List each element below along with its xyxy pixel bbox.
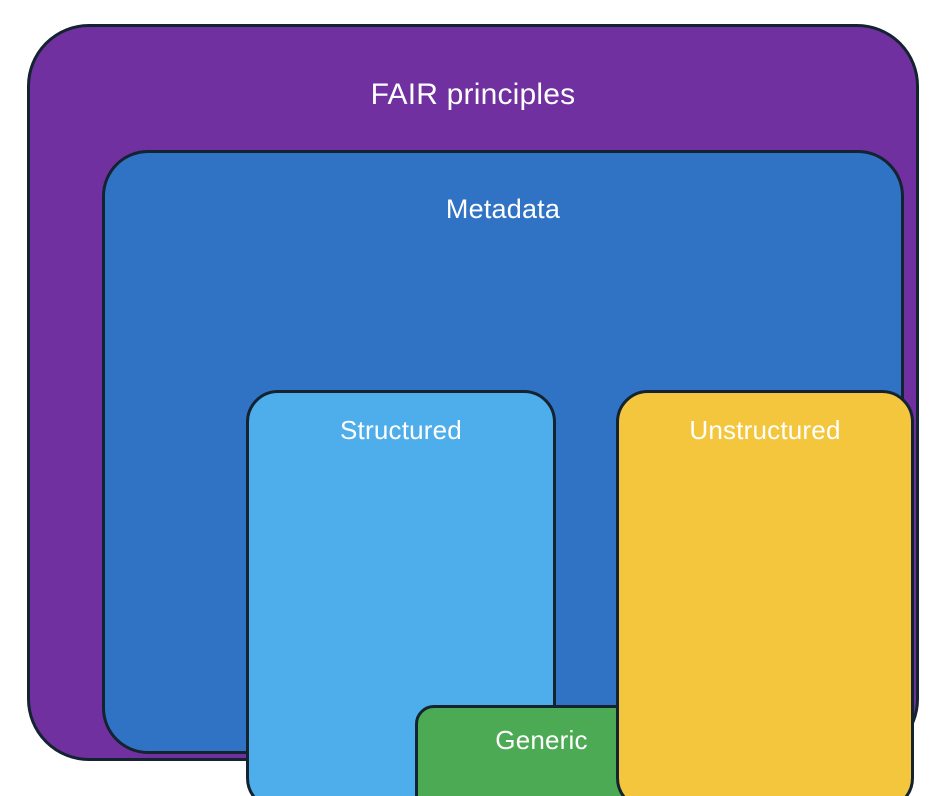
unstructured-category-label: Unstructured: [619, 393, 911, 445]
structured-category-container: Structured Generic Specific: [246, 390, 556, 796]
fair-principles-container: FAIR principles Metadata Structured Gene…: [27, 24, 919, 761]
metadata-label: Metadata: [105, 153, 901, 225]
fair-principles-label: FAIR principles: [30, 27, 916, 111]
unstructured-category-container: Unstructured Readme Codebook: [616, 390, 914, 796]
structured-category-label: Structured: [249, 393, 553, 445]
metadata-container: Metadata Structured Generic Specific Uns…: [102, 150, 904, 754]
diagram-canvas: FAIR principles Metadata Structured Gene…: [0, 0, 944, 796]
